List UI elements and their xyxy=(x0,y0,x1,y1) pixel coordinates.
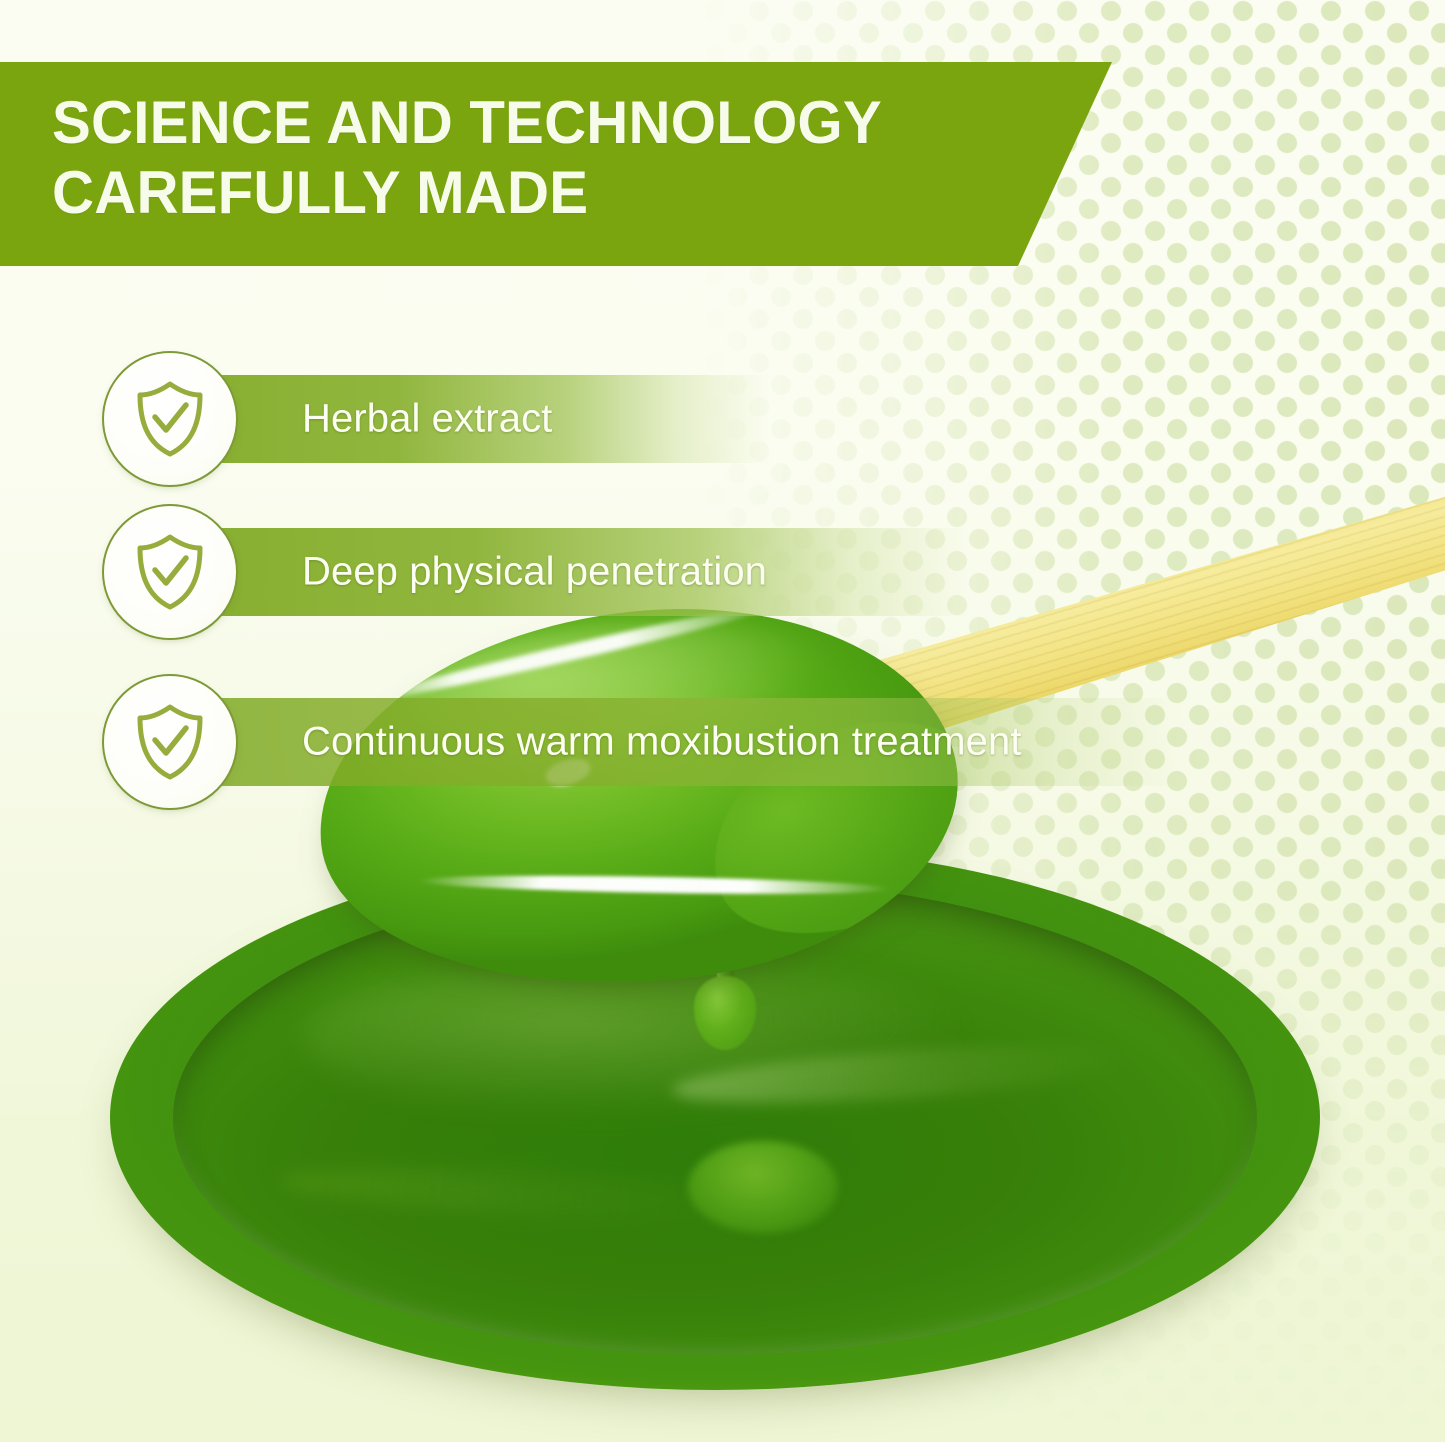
header-banner: SCIENCE AND TECHNOLOGY CAREFULLY MADE xyxy=(0,62,1112,266)
feature-row-1[interactable]: Herbal extract xyxy=(170,375,770,463)
feature-row-3[interactable]: Continuous warm moxibustion treatment xyxy=(170,698,1180,786)
shield-check-icon xyxy=(102,504,238,640)
page-title: SCIENCE AND TECHNOLOGY CAREFULLY MADE xyxy=(52,88,1061,228)
feature-label-1: Herbal extract xyxy=(302,397,552,442)
shield-check-icon xyxy=(102,674,238,810)
feature-label-2: Deep physical penetration xyxy=(302,550,767,595)
shield-check-icon xyxy=(102,351,238,487)
paste-mound xyxy=(688,1141,838,1233)
product-infographic: SCIENCE AND TECHNOLOGY CAREFULLY MADE He… xyxy=(0,0,1445,1442)
feature-row-2[interactable]: Deep physical penetration xyxy=(170,528,970,616)
feature-label-3: Continuous warm moxibustion treatment xyxy=(302,720,1022,765)
